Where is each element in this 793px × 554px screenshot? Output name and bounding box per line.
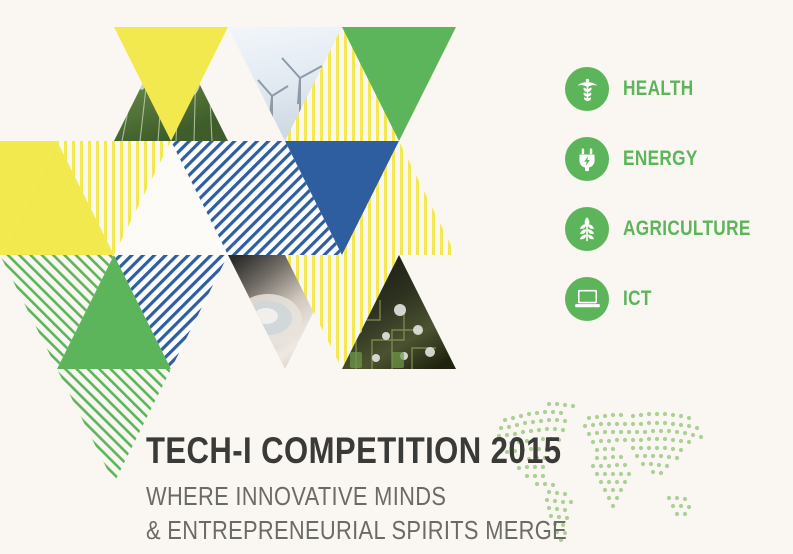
laptop-icon bbox=[565, 277, 609, 321]
category-item-health[interactable]: HEALTH bbox=[565, 66, 790, 112]
wheat-icon bbox=[565, 207, 609, 251]
subtitle: WHERE INNOVATIVE MINDS & ENTREPRENEURIAL… bbox=[146, 479, 647, 548]
subtitle-line-2: & ENTREPRENEURIAL SPIRITS MERGE bbox=[146, 513, 567, 547]
page-title: TECH-I COMPETITION 2015 bbox=[146, 432, 567, 469]
category-label-health: HEALTH bbox=[623, 77, 694, 101]
category-list: HEALTH ENERGY bbox=[565, 66, 790, 346]
category-item-ict[interactable]: ICT bbox=[565, 276, 790, 322]
category-label-energy: ENERGY bbox=[623, 147, 698, 171]
triangle-mosaic bbox=[0, 0, 500, 500]
category-label-agriculture: AGRICULTURE bbox=[623, 217, 751, 241]
power-plug-icon bbox=[565, 137, 609, 181]
subtitle-line-1: WHERE INNOVATIVE MINDS bbox=[146, 479, 567, 513]
category-item-energy[interactable]: ENERGY bbox=[565, 136, 790, 182]
category-item-agriculture[interactable]: AGRICULTURE bbox=[565, 206, 790, 252]
caduceus-icon bbox=[565, 67, 609, 111]
poster-canvas: HEALTH ENERGY bbox=[0, 0, 793, 554]
category-label-ict: ICT bbox=[623, 287, 652, 311]
title-block: TECH-I COMPETITION 2015 WHERE INNOVATIVE… bbox=[146, 432, 647, 548]
